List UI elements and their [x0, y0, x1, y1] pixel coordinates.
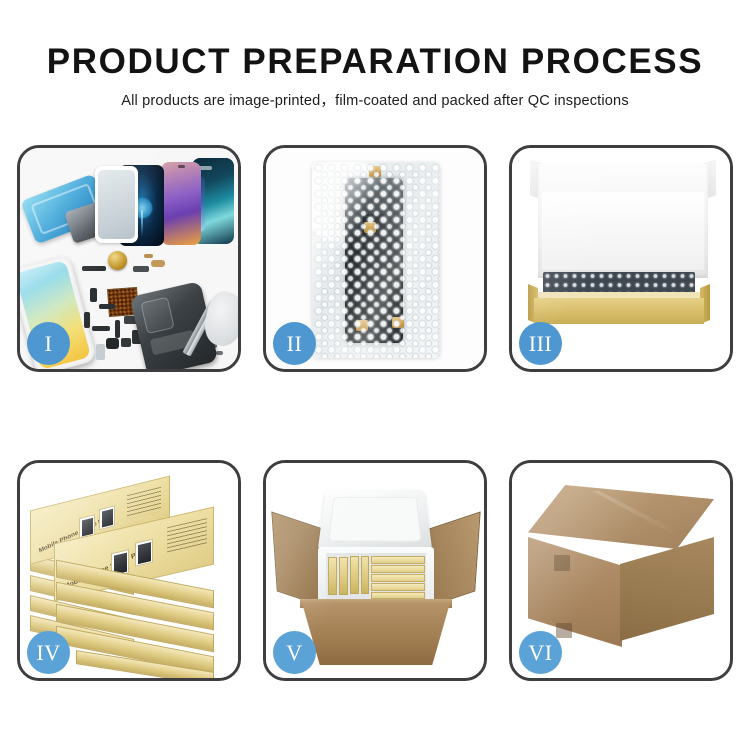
bubble-wrap-bag	[312, 162, 440, 358]
packed-box-flat	[371, 592, 425, 599]
phone-purple	[161, 162, 201, 245]
spare-part	[115, 320, 120, 338]
step-card-4: Mobile Phone Spare Parts Mobile Phone Sp…	[17, 460, 241, 681]
bubble-texture-overlay	[318, 168, 440, 358]
step-card-2: II	[263, 145, 487, 372]
packed-box-flat	[371, 574, 425, 582]
spare-part	[216, 351, 223, 355]
spare-part	[99, 304, 115, 309]
spare-part	[90, 288, 97, 302]
page-title: PRODUCT PREPARATION PROCESS	[0, 42, 750, 82]
step-card-1: I	[17, 145, 241, 372]
step-badge-5: V	[273, 631, 316, 674]
packed-box	[350, 556, 359, 594]
packed-box	[339, 557, 348, 595]
steps-grid: I II	[17, 145, 733, 681]
step-card-6: VI	[509, 460, 733, 681]
page-subtitle: All products are image-printed，film-coat…	[0, 89, 750, 110]
tempered-glass-sheet	[95, 166, 138, 243]
carton-side-face	[620, 537, 714, 641]
spare-part	[92, 326, 110, 331]
box-thumbnail	[135, 539, 153, 567]
spare-part-coin	[108, 251, 127, 270]
header: PRODUCT PREPARATION PROCESS All products…	[0, 0, 750, 130]
spare-part	[151, 260, 165, 267]
packed-box	[361, 556, 369, 594]
styrofoam-lid	[318, 490, 433, 552]
packed-box-flat	[371, 583, 425, 591]
carton-top-face	[528, 485, 714, 549]
spare-part	[96, 344, 105, 360]
carton-front	[302, 603, 450, 665]
carton-tape-patch	[554, 555, 570, 571]
spare-part	[82, 266, 106, 271]
spare-part	[84, 312, 90, 328]
spare-part	[106, 338, 119, 349]
product-preparation-infographic: PRODUCT PREPARATION PROCESS All products…	[0, 0, 750, 750]
spare-part	[133, 266, 149, 272]
step-badge-2: II	[273, 322, 316, 365]
step-badge-6: VI	[519, 631, 562, 674]
step-card-3: III	[509, 145, 733, 372]
spare-part	[121, 338, 131, 347]
spare-part	[144, 254, 153, 258]
step-badge-1: I	[27, 322, 70, 365]
kraft-box-front	[534, 298, 704, 324]
packed-box	[328, 557, 337, 595]
step-badge-3: III	[519, 322, 562, 365]
step-card-5: V	[263, 460, 487, 681]
box-thumbnail	[99, 505, 115, 530]
foam-sheet	[542, 192, 704, 270]
packed-box-flat	[371, 556, 425, 564]
carton-tape-patch	[556, 623, 572, 638]
step-badge-4: IV	[27, 631, 70, 674]
packed-box-flat	[371, 565, 425, 573]
